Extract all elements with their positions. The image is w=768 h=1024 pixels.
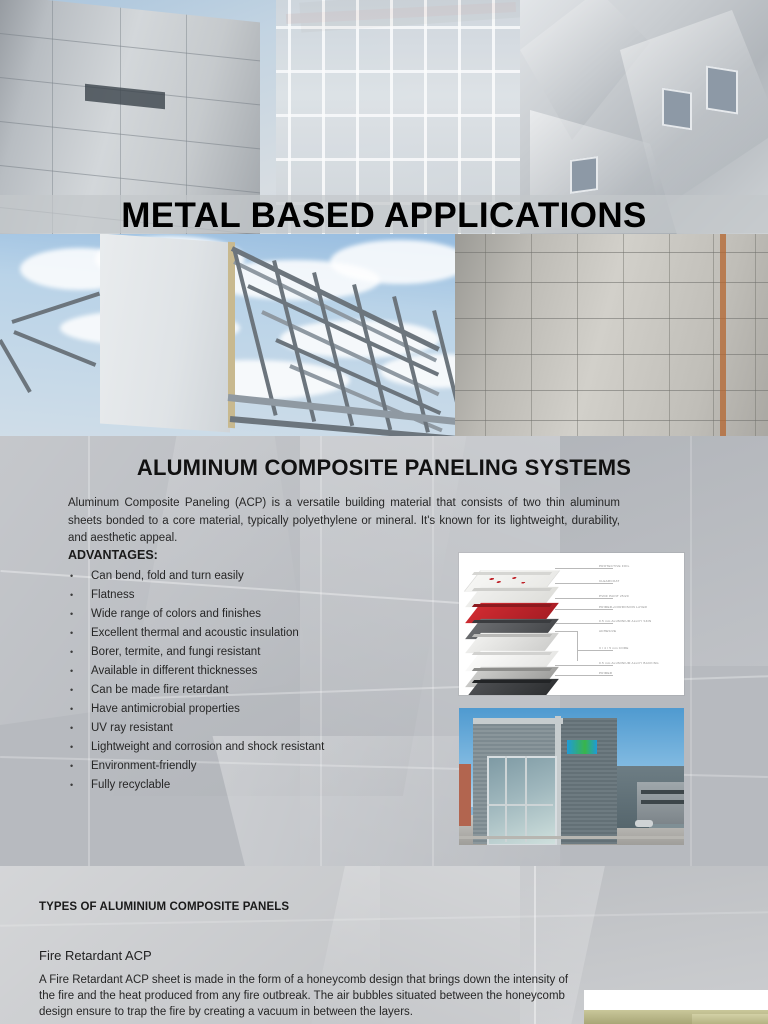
page-title: METAL BASED APPLICATIONS <box>0 196 768 236</box>
building-signage <box>567 740 597 754</box>
list-item: Borer, termite, and fungi resistant <box>68 643 448 662</box>
diagram-label: 3 / 4 / 5 mm CORE <box>599 646 629 650</box>
diagram-label: 0.5 mm ALUMINIUM ALLOY BACKING <box>599 661 659 665</box>
advantages-heading: ADVANTAGES: <box>68 548 158 562</box>
list-item: Environment-friendly <box>68 757 448 776</box>
honeycomb-core-panel-photo <box>584 990 768 1024</box>
list-item: UV ray resistant <box>68 719 448 738</box>
fire-retardant-paragraph: A Fire Retardant ACP sheet is made in th… <box>39 972 569 1020</box>
diagram-label: PRIMER+CORROSION LAYER <box>599 605 647 609</box>
types-section-heading: TYPES OF ALUMINIUM COMPOSITE PANELS <box>39 901 289 913</box>
list-item: Fully recyclable <box>68 776 448 795</box>
header-image-collage: METAL BASED APPLICATIONS <box>0 0 768 436</box>
list-item: Have antimicrobial properties <box>68 700 448 719</box>
diagram-label: CLEARCOAT <box>599 579 619 583</box>
list-item: Flatness <box>68 586 448 605</box>
list-item: Can bend, fold and turn easily <box>68 567 448 586</box>
list-item: Available in different thicknesses <box>68 662 448 681</box>
list-item: Can be made fire retardant <box>68 681 448 700</box>
diagram-label: PVDF PAINT 25/20 <box>599 594 629 598</box>
acp-clad-building-photo <box>459 708 684 845</box>
acp-section-heading: ALUMINUM COMPOSITE PANELING SYSTEMS <box>0 455 768 481</box>
crane-mast <box>720 234 726 436</box>
fire-retardant-subheading: Fire Retardant ACP <box>39 948 152 963</box>
acp-intro-paragraph: Aluminum Composite Paneling (ACP) is a v… <box>68 495 620 548</box>
list-item: Wide range of colors and finishes <box>68 605 448 624</box>
warehouse-wall <box>100 234 230 433</box>
list-item: Lightweight and corrosion and shock resi… <box>68 738 448 757</box>
diagram-label: PRIMER <box>599 671 612 675</box>
acp-exploded-layer-diagram: PROTECTIVE FOIL CLEARCOAT PVDF PAINT 25/… <box>459 553 684 695</box>
diagram-label: PROTECTIVE FOIL <box>599 564 630 568</box>
diagram-label: ADHESIVE <box>599 629 616 633</box>
diagram-label: 0.5 mm ALUMINIUM ALLOY SKIN <box>599 619 651 623</box>
advantages-list: Can bend, fold and turn easily Flatness … <box>68 567 448 795</box>
list-item: Excellent thermal and acoustic insulatio… <box>68 624 448 643</box>
collage-bottom-row <box>0 234 768 436</box>
